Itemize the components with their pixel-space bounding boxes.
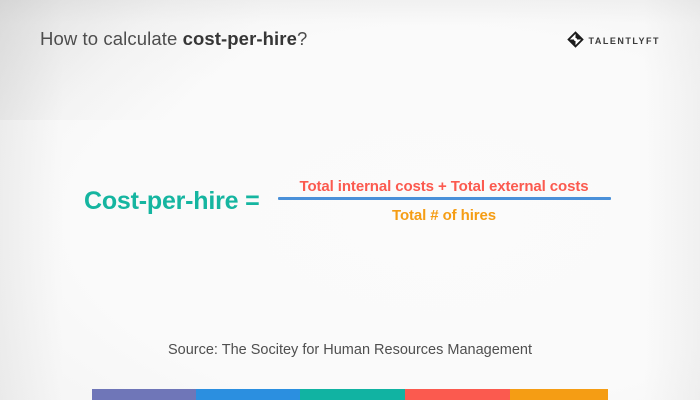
- formula-left-side: Cost-per-hire =: [84, 187, 260, 216]
- color-bar-segment-red: [405, 389, 510, 400]
- page-title-prefix: How to calculate: [40, 28, 183, 49]
- background-shading-top-left: [0, 0, 260, 120]
- page-title: How to calculate cost-per-hire?: [40, 28, 307, 50]
- formula-fraction-bar: [278, 197, 611, 200]
- bottom-color-bar: [92, 389, 608, 400]
- color-bar-segment-orange: [510, 389, 608, 400]
- source-note: Source: The Socitey for Human Resources …: [0, 342, 700, 358]
- page-title-emphasis: cost-per-hire: [183, 28, 297, 49]
- slide-canvas: How to calculate cost-per-hire? TalentLy…: [0, 0, 700, 400]
- formula-numerator: Total internal costs + Total external co…: [300, 178, 589, 195]
- color-bar-segment-blue: [196, 389, 300, 400]
- page-title-suffix: ?: [297, 28, 307, 49]
- cost-per-hire-formula: Cost-per-hire = Total internal costs + T…: [84, 178, 611, 224]
- color-bar-segment-purple: [92, 389, 196, 400]
- brand-wordmark: TalentLyft: [589, 32, 661, 47]
- color-bar-segment-teal: [300, 389, 405, 400]
- formula-denominator: Total # of hires: [392, 207, 496, 224]
- brand-logo: TalentLyft: [567, 31, 661, 48]
- formula-fraction: Total internal costs + Total external co…: [278, 178, 611, 224]
- diamond-logo-icon: [567, 31, 584, 48]
